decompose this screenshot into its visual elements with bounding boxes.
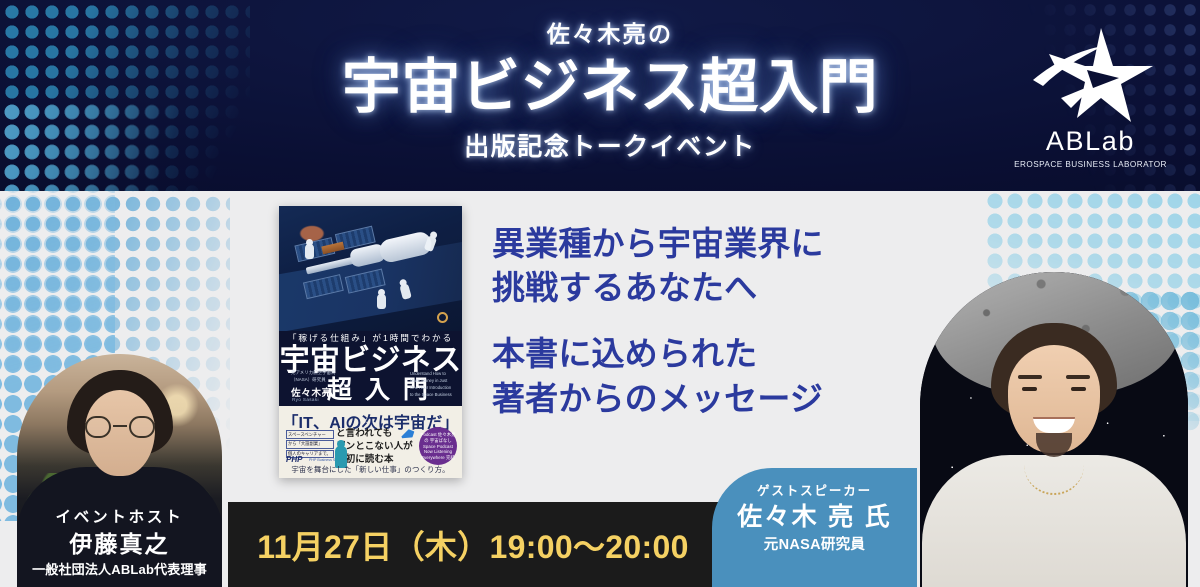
guest-caption-panel: ゲストスピーカー 佐々木 亮 氏 元NASA研究員 [712,468,917,587]
book-author-affiliation: 元アメリカ航空宇宙局 （NASA）研究員 [291,370,337,383]
ablab-logo: ABLab EROSPACE BUSINESS LABORATOR [1003,26,1178,176]
guest-eyebrow-left [1018,375,1042,379]
guest-portrait-photo [920,317,1188,587]
book-english-copy: Understand How to Make Money in Just One… [410,371,454,399]
guest-beard [1036,433,1072,457]
logo-wordmark: ABLab [1003,128,1178,155]
guest-eye-left [1022,387,1037,391]
guest-name: 佐々木 亮 氏 [712,501,917,535]
publisher-logo: PHP [286,455,302,464]
solar-panel-icon [303,274,344,299]
message-line-4: 著者からのメッセージ [492,377,824,421]
title-eyebrow: 佐々木亮の [300,22,920,47]
astronaut-icon [305,244,314,259]
host-portrait-card: イベントホスト 伊藤真之 一般社団法人ABLab代表理事 [17,354,222,587]
iss-graphic [290,209,458,305]
obi-copy-line-2: ピンとこない人が [336,441,414,454]
planet-ring-icon [437,312,448,323]
star-logo-icon [1003,26,1178,126]
book-tagline: 「稼げる仕組み」が1時間でわかる [279,332,462,344]
obi-copy-line-1: と言われても [336,428,414,441]
message-line-3: 本書に込められた [492,332,824,376]
title-subtitle: 出版記念トークイベント [300,127,920,163]
event-banner: 佐々木亮の 宇宙ビジネス超入門 出版記念トークイベント ABLab EROSPA… [0,0,1200,587]
book-cover: 「稼げる仕組み」が1時間でわかる 宇宙ビジネス 超 入 門 元アメリカ航空宇宙局… [279,206,462,478]
astronaut-icon [377,294,386,309]
book-author-romaji: Ryo Sasaki [292,397,319,402]
host-name: 伊藤真之 [17,530,222,560]
host-role: イベントホスト [17,506,222,529]
astronaut-icon [399,283,412,300]
host-caption: イベントホスト 伊藤真之 一般社団法人ABLab代表理事 [17,506,222,579]
guest-portrait-card [920,272,1188,587]
message-spacer [492,310,824,332]
title-block: 佐々木亮の 宇宙ビジネス超入門 出版記念トークイベント [300,22,920,163]
event-datetime: 11月27日（木）19:00〜20:00 [228,522,788,568]
header-band: 佐々木亮の 宇宙ビジネス超入門 出版記念トークイベント ABLab EROSPA… [0,0,1200,191]
guest-role: ゲストスピーカー [712,482,917,501]
glasses-icon [83,416,157,438]
obi-footer: 宇宙を舞台にした「新しい仕事」のつくり方。 [279,464,462,475]
page-title: 宇宙ビジネス超入門 [300,56,920,120]
host-organization: 一般社団法人ABLab代表理事 [17,560,222,580]
obi-copy: と言われても ピンとこない人が 最初に読む本 [336,428,414,466]
obi-keyword: スペースベンチャー [286,430,334,439]
date-bar: 11月27日（木）19:00〜20:00 [228,502,788,587]
space-station-illustration-icon [279,206,462,331]
halftone-dots-top-left-bright [0,100,210,191]
obi-podcast-badge: Podcast 佐々木亮の 宇宙ばなし Space Podcast Now Li… [419,427,457,465]
guest-eye-right [1071,387,1086,391]
logo-tagline: EROSPACE BUSINESS LABORATOR [1003,160,1178,169]
message-line-1: 異業種から宇宙業界に [492,222,824,266]
obi-keyword: から「大設副業」 [286,440,334,449]
book-obi-band: 「IT、AIの次は宇宙だ」 スペースベンチャー から「大設副業」 個人のキャリア… [279,406,462,478]
guest-eyebrow-right [1066,375,1090,379]
message-line-2: 挑戦するあなたへ [492,266,824,310]
guest-organization: 元NASA研究員 [712,535,917,557]
message-block: 異業種から宇宙業界に 挑戦するあなたへ 本書に込められた 著者からのメッセージ [492,222,824,421]
